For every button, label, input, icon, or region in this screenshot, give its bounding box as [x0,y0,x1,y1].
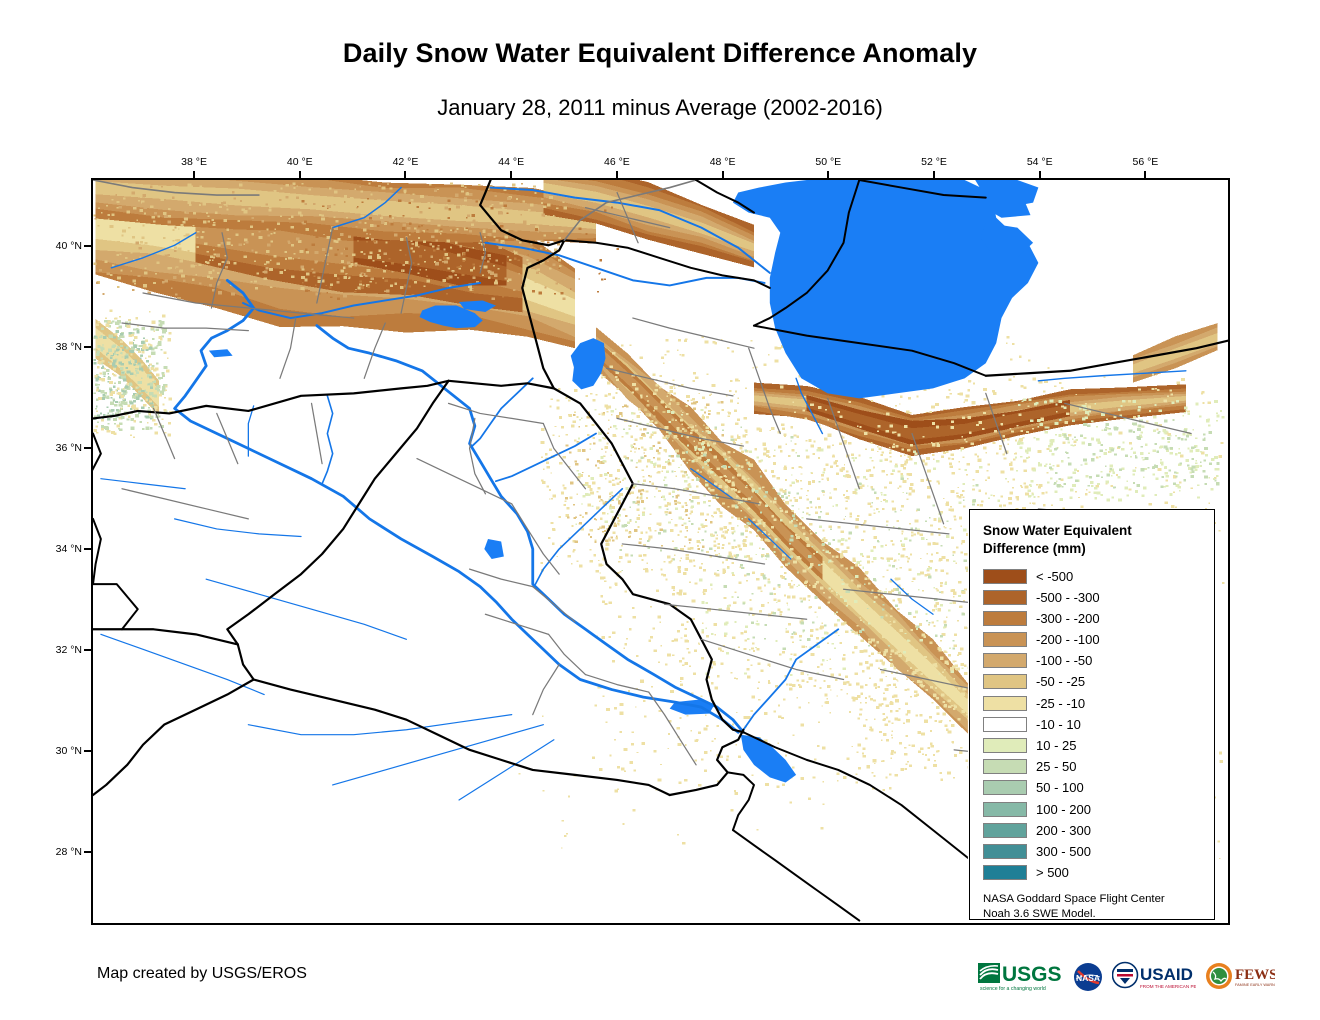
longitude-tick-mark [1144,171,1146,178]
longitude-tick-label: 44 °E [498,156,524,168]
legend-swatch [983,590,1027,605]
legend-label: -10 - 10 [1036,718,1081,731]
usgs-logo-icon: USGS science for a changing world [978,960,1064,994]
longitude-tick-mark [404,171,406,178]
latitude-tick-label: 36 °N [56,442,82,454]
legend-swatch [983,653,1027,668]
legend-label: 25 - 50 [1036,760,1076,773]
legend-swatch [983,780,1027,795]
legend-swatch [983,674,1027,689]
latitude-tick-label: 30 °N [56,745,82,757]
longitude-tick-label: 48 °E [710,156,736,168]
legend-label: -100 - -50 [1036,654,1092,667]
latitude-tick-label: 40 °N [56,240,82,252]
legend-label: 300 - 500 [1036,845,1091,858]
legend-row: -10 - 10 [983,714,1204,735]
legend-title-line2: Difference (mm) [983,540,1204,558]
legend-label: -200 - -100 [1036,633,1100,646]
longitude-tick-label: 42 °E [393,156,419,168]
page-title: Daily Snow Water Equivalent Difference A… [0,38,1320,69]
latitude-tick-mark [84,245,91,247]
longitude-tick-label: 46 °E [604,156,630,168]
fewsnet-logo-icon: FEWS FAMINE EARLY WARNING [1205,960,1275,994]
legend-title-line1: Snow Water Equivalent [983,522,1204,540]
legend-label: 100 - 200 [1036,803,1091,816]
latitude-tick-mark [84,649,91,651]
legend-label: 50 - 100 [1036,781,1084,794]
legend-row: 100 - 200 [983,799,1204,820]
usgs-logo: USGS science for a changing world [978,960,1064,994]
legend-swatch [983,717,1027,732]
agency-logos: USGS science for a changing world NASA U… [978,956,1275,998]
latitude-tick-mark [84,851,91,853]
usaid-logo-icon: USAID FROM THE AMERICAN PEOPLE [1112,960,1196,994]
legend-swatch [983,696,1027,711]
latitude-tick-mark [84,346,91,348]
latitude-tick-mark [84,447,91,449]
legend-swatch [983,844,1027,859]
legend-label: > 500 [1036,866,1069,879]
latitude-tick-label: 32 °N [56,644,82,656]
legend-swatch [983,802,1027,817]
map-credit: Map created by USGS/EROS [97,965,307,983]
legend-source: NASA Goddard Space Flight Center Noah 3.… [983,892,1204,921]
longitude-tick-label: 40 °E [287,156,313,168]
nasa-logo-icon: NASA [1073,962,1103,992]
legend-label: 200 - 300 [1036,824,1091,837]
longitude-tick-mark [193,171,195,178]
page-subtitle: January 28, 2011 minus Average (2002-201… [0,95,1320,121]
map-page: Daily Snow Water Equivalent Difference A… [0,0,1320,1020]
map-legend: Snow Water Equivalent Difference (mm) < … [969,509,1215,920]
legend-row: 25 - 50 [983,756,1204,777]
legend-label: -300 - -200 [1036,612,1100,625]
latitude-tick-label: 38 °N [56,341,82,353]
longitude-tick-mark [722,171,724,178]
legend-row: 50 - 100 [983,777,1204,798]
legend-row: < -500 [983,565,1204,586]
longitude-tick-label: 54 °E [1027,156,1053,168]
legend-row: > 500 [983,862,1204,883]
legend-label: 10 - 25 [1036,739,1076,752]
nasa-logo: NASA [1073,962,1103,992]
legend-swatch [983,611,1027,626]
longitude-tick-mark [510,171,512,178]
latitude-tick-label: 34 °N [56,543,82,555]
legend-row: -500 - -300 [983,587,1204,608]
legend-row: -300 - -200 [983,608,1204,629]
legend-swatch [983,823,1027,838]
legend-row: -200 - -100 [983,629,1204,650]
legend-label: < -500 [1036,570,1073,583]
longitude-tick-mark [616,171,618,178]
legend-class-list: < -500-500 - -300-300 - -200-200 - -100-… [983,565,1204,883]
usaid-logo: USAID FROM THE AMERICAN PEOPLE [1112,960,1196,994]
latitude-tick-mark [84,750,91,752]
legend-swatch [983,738,1027,753]
longitude-tick-mark [1039,171,1041,178]
longitude-tick-mark [933,171,935,178]
legend-swatch [983,632,1027,647]
legend-label: -25 - -10 [1036,697,1085,710]
legend-row: 10 - 25 [983,735,1204,756]
longitude-tick-label: 52 °E [921,156,947,168]
latitude-tick-label: 28 °N [56,846,82,858]
legend-row: 300 - 500 [983,841,1204,862]
legend-swatch [983,865,1027,880]
legend-row: 200 - 300 [983,820,1204,841]
legend-row: -100 - -50 [983,650,1204,671]
longitude-tick-mark [827,171,829,178]
latitude-tick-mark [84,548,91,550]
longitude-tick-label: 50 °E [815,156,841,168]
legend-label: -50 - -25 [1036,675,1085,688]
longitude-tick-label: 56 °E [1133,156,1159,168]
legend-row: -25 - -10 [983,693,1204,714]
longitude-tick-mark [299,171,301,178]
legend-row: -50 - -25 [983,671,1204,692]
legend-swatch [983,569,1027,584]
legend-label: -500 - -300 [1036,591,1100,604]
longitude-tick-label: 38 °E [181,156,207,168]
legend-swatch [983,759,1027,774]
legend-title: Snow Water Equivalent Difference (mm) [983,522,1204,558]
fewsnet-logo: FEWS FAMINE EARLY WARNING [1205,960,1275,994]
